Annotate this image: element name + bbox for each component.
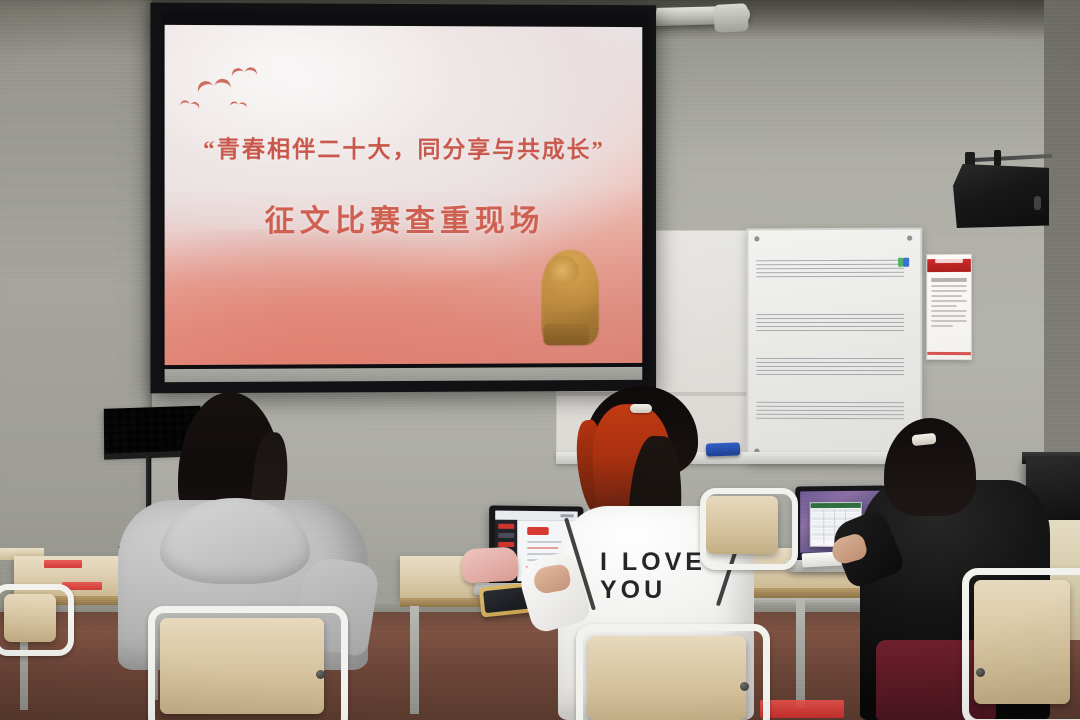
poster-text-line [931,315,966,317]
slide-headline: “青春相伴二十大，同分享与共成长” [165,130,643,165]
chair-bolt [740,682,749,691]
poster-text-line [931,325,953,327]
poster-text-line [931,310,967,312]
poster-header [927,259,971,272]
screen-roller-cap [713,3,748,33]
music-staff-whiteboard [746,228,922,465]
whiteboard-screw [754,236,759,241]
spreadsheet-header [811,503,861,508]
projected-slide: “青春相伴二十大，同分享与共成长” 征文比赛查重现场 [165,25,643,365]
floor-sign [760,700,844,718]
lion-statue-icon [541,250,598,346]
poster-text-line [931,290,967,292]
sidebar-item [498,542,514,547]
poster-text-line [931,300,967,302]
hair-clip [630,404,652,413]
classroom-photo: “青春相伴二十大，同分享与共成长” 征文比赛查重现场 [0,0,1080,720]
poster-footer [927,352,971,355]
desk-label [44,560,82,568]
chair-frame [962,568,1080,720]
poster-text-line [931,285,967,287]
whiteboard-screw [907,236,912,241]
spreadsheet-row [812,509,860,512]
desk-leg [796,598,805,708]
chair-frame [700,488,798,570]
music-staff [756,314,904,334]
chair-bolt [976,668,985,677]
bird-icon [230,101,247,110]
spreadsheet-row [812,513,860,516]
whiteboard-magnet-blue[interactable] [903,258,909,267]
music-staff [756,402,904,422]
wall-notice-poster [926,254,972,360]
poster-title-bar [931,278,967,282]
speaker-bolt [994,150,1001,166]
slide-subhead: 征文比赛查重现场 [165,196,643,240]
speaker-side-panel [1034,196,1041,210]
chair-bolt [316,670,325,679]
pink-pouch[interactable] [461,547,519,584]
screen-bottom-bar [165,367,643,389]
sidebar-item [498,533,514,538]
bird-icon [197,78,232,97]
projection-screen: “青春相伴二十大，同分享与共成长” 征文比赛查重现场 [150,3,656,394]
chair-frame [576,624,770,720]
poster-text-line [931,295,961,297]
sidebar-item [498,524,514,529]
chair-frame [148,606,348,720]
page-text-line [527,547,558,549]
music-staff [756,358,904,378]
poster-text-line [931,305,957,307]
desk-leg [410,606,419,714]
music-staff [756,260,904,280]
page-button [527,527,549,535]
whiteboard-eraser[interactable] [706,442,740,456]
bird-icon [232,67,258,80]
poster-text-line [931,320,967,322]
chair-frame [0,584,74,656]
